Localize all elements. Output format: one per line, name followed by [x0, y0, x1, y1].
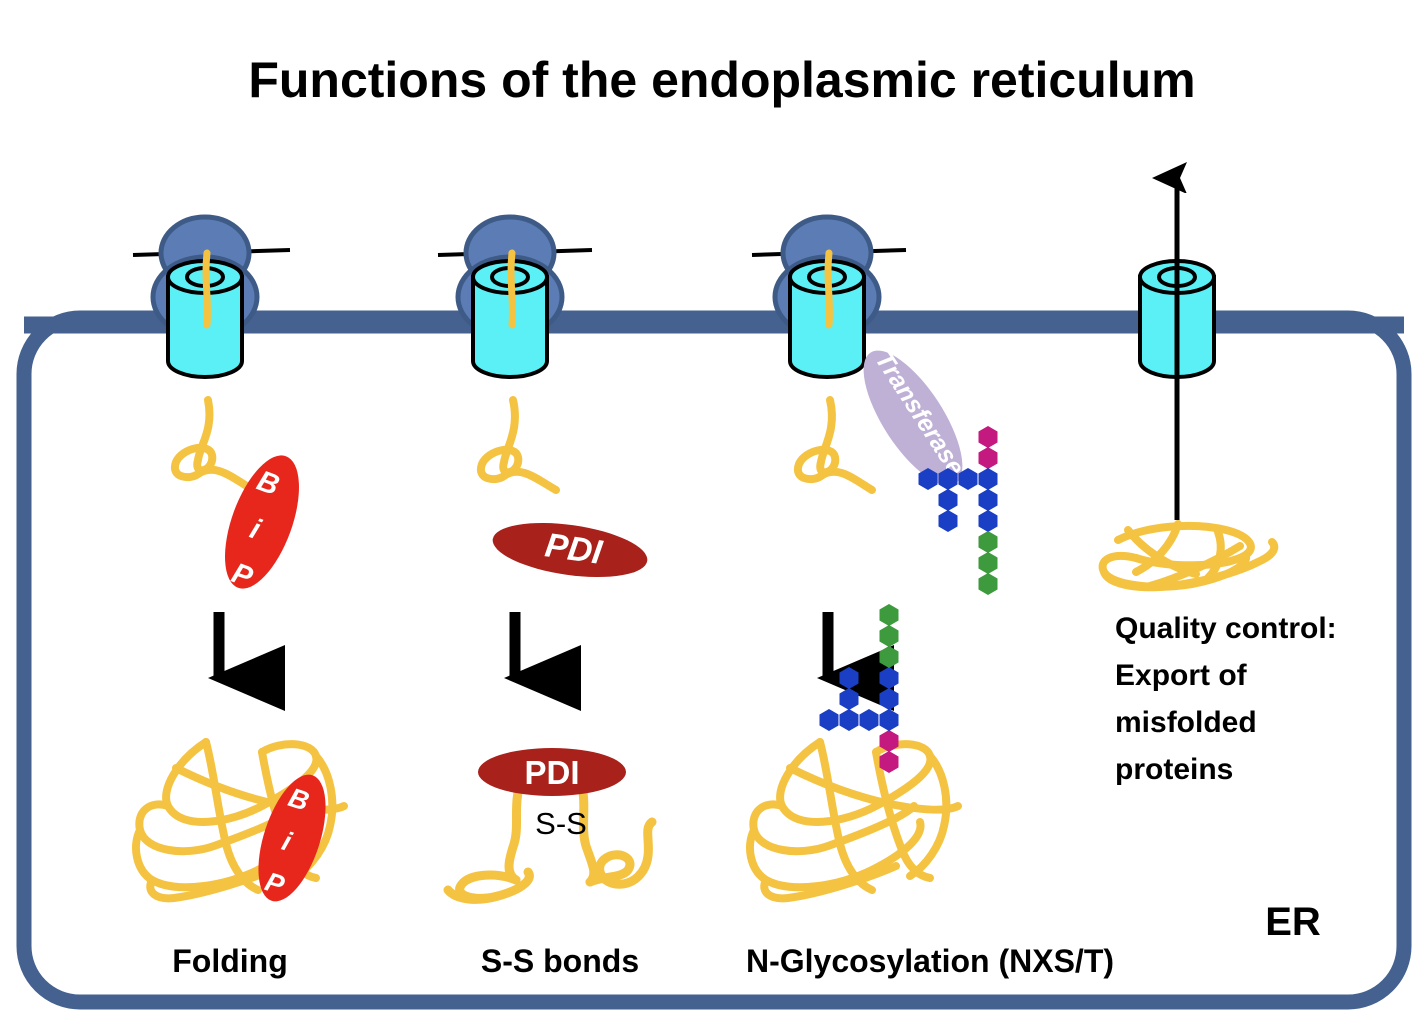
quality-control-line-3: misfolded: [1115, 706, 1257, 739]
glycosylated-protein-icon: [750, 742, 958, 898]
panel-label-folding: Folding: [172, 943, 288, 979]
er-compartment-label: ER: [1265, 900, 1321, 944]
quality-control-line-1: Quality control:: [1115, 612, 1337, 645]
panel-label-n-glycosylation: N-Glycosylation (NXS/T): [746, 943, 1114, 979]
quality-control-line-4: proteins: [1115, 753, 1233, 786]
misfolded-protein-icon: [1103, 524, 1275, 587]
panel-label-ss-bonds: S-S bonds: [481, 943, 639, 979]
panel-quality-control: Quality control: Export of misfolded pro…: [1103, 178, 1337, 786]
quality-control-line-2: Export of: [1115, 659, 1248, 692]
nascent-polypeptide-icon-2: [511, 253, 512, 325]
nascent-polypeptide-icon-3: [828, 253, 829, 325]
nascent-polypeptide-icon: [206, 253, 207, 325]
nascent-chain-lumen-icon: [175, 400, 250, 488]
pdi-label-lower: PDI: [524, 754, 579, 791]
nascent-chain-lumen-icon-3: [798, 400, 872, 490]
er-functions-diagram: B i P B i: [0, 0, 1428, 1030]
figure-canvas: B i P B i: [0, 0, 1428, 1030]
disulfide-bond-label: S-S: [535, 806, 587, 841]
pdi-label-upper: PDI: [543, 526, 606, 572]
nascent-chain-lumen-icon-2: [481, 400, 556, 490]
figure-title: Functions of the endoplasmic reticulum: [248, 52, 1195, 108]
